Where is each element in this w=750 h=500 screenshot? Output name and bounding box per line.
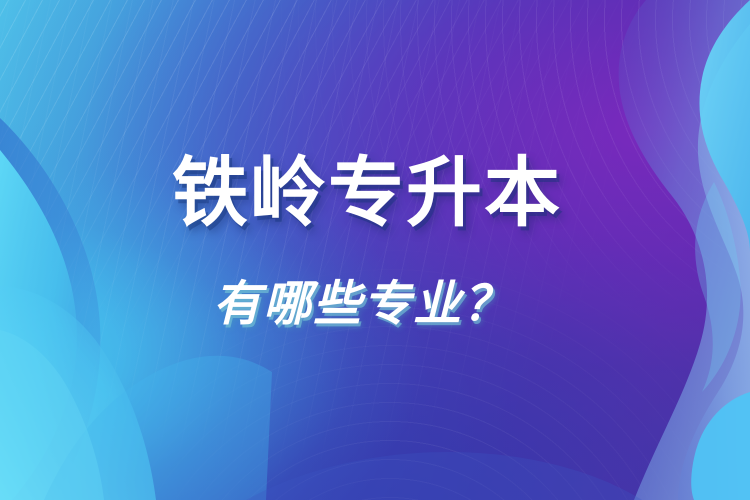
wave-decoration-group [0, 0, 750, 500]
wave-bottom-sweep [246, 452, 642, 500]
subtitle-text: 有哪些专业？ [213, 268, 593, 329]
page-title: 铁岭专升本 [172, 156, 562, 232]
promo-banner: 铁岭专升本 有哪些专业？ [0, 0, 750, 500]
